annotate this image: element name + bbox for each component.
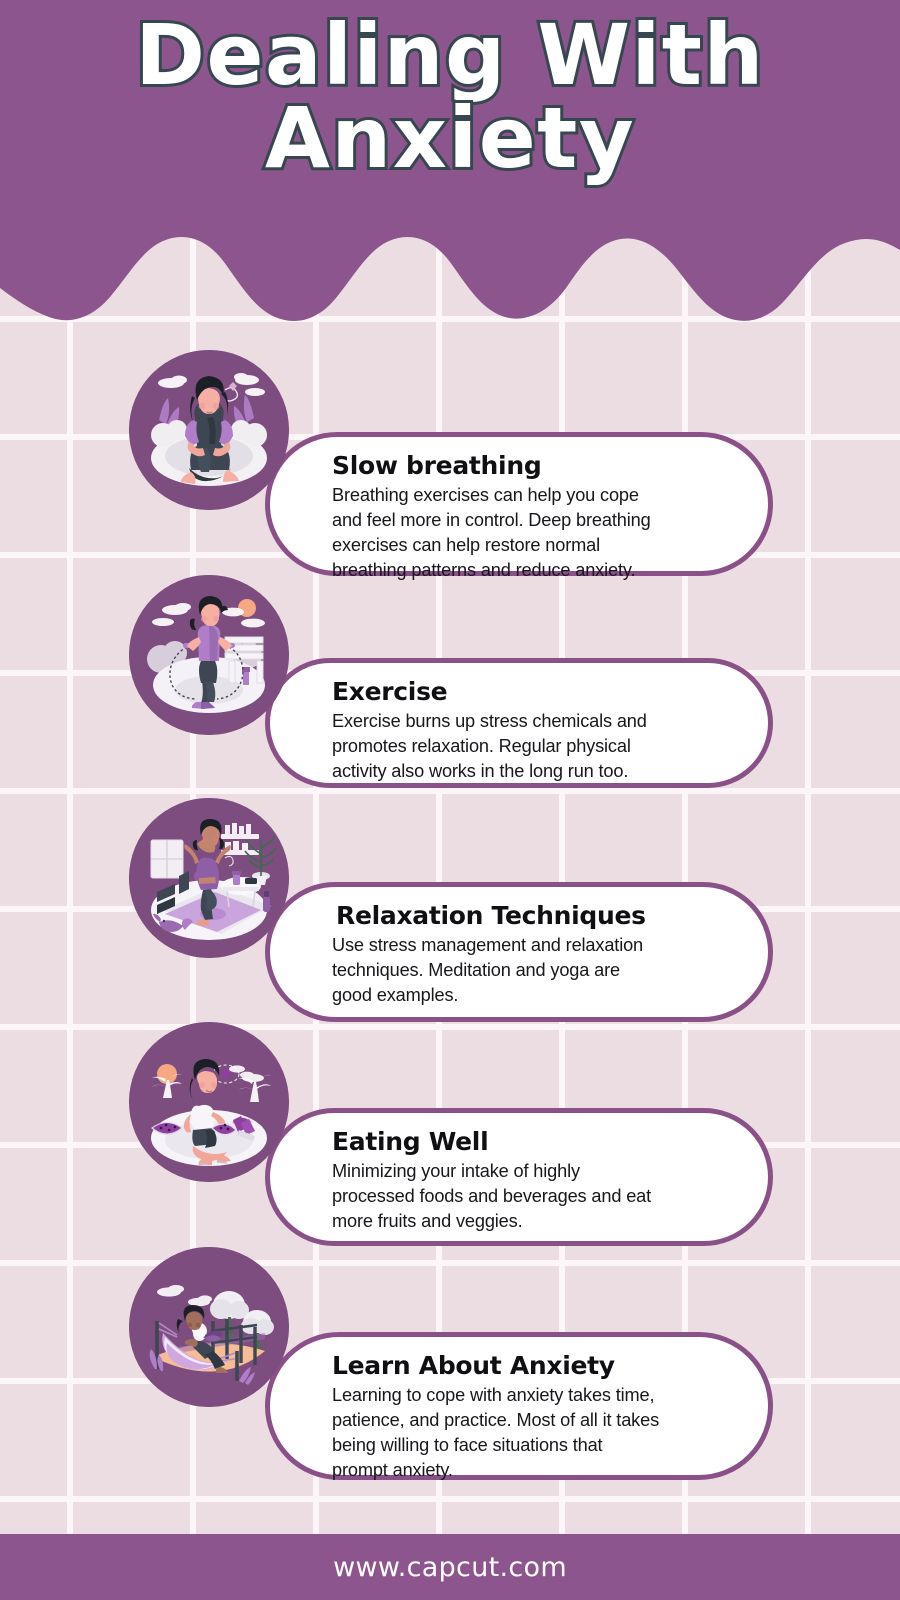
card-exercise[interactable]: Exercise Exercise burns up stress chemic… [265, 658, 773, 788]
page-title-line-1: Dealing With [0, 14, 900, 97]
page-title-line-2: Anxiety [0, 97, 900, 180]
footer-bar: www.capcut.com [0, 1534, 900, 1600]
card-body: Learning to cope with anxiety takes time… [332, 1383, 734, 1484]
card-body: Use stress management and relaxation tec… [332, 933, 734, 1009]
jump-rope-woman-icon [129, 575, 289, 735]
card-body: Minimizing your intake of highly process… [332, 1159, 734, 1235]
card-body: Breathing exercises can help you cope an… [332, 483, 734, 584]
card-title: Exercise [332, 677, 734, 708]
meditating-woman-icon [129, 350, 289, 510]
card-slow-breathing[interactable]: Slow breathing Breathing exercises can h… [265, 432, 773, 576]
card-relaxation-techniques[interactable]: Relaxation Techniques Use stress managem… [265, 882, 773, 1022]
card-title: Eating Well [332, 1127, 734, 1158]
card-body: Exercise burns up stress chemicals and p… [332, 709, 734, 785]
eating-watermelon-woman-icon [129, 1022, 289, 1182]
card-title: Slow breathing [332, 451, 734, 482]
header-banner: Dealing With Anxiety [0, 0, 900, 330]
page-title: Dealing With Anxiety [0, 14, 900, 180]
hammock-reading-woman-icon [129, 1247, 289, 1407]
footer-url[interactable]: www.capcut.com [333, 1552, 567, 1583]
card-learn-about-anxiety[interactable]: Learn About Anxiety Learning to cope wit… [265, 1332, 773, 1480]
yoga-pose-woman-icon [129, 798, 289, 958]
card-eating-well[interactable]: Eating Well Minimizing your intake of hi… [265, 1108, 773, 1246]
card-title: Relaxation Techniques [332, 901, 734, 932]
card-title: Learn About Anxiety [332, 1351, 734, 1382]
